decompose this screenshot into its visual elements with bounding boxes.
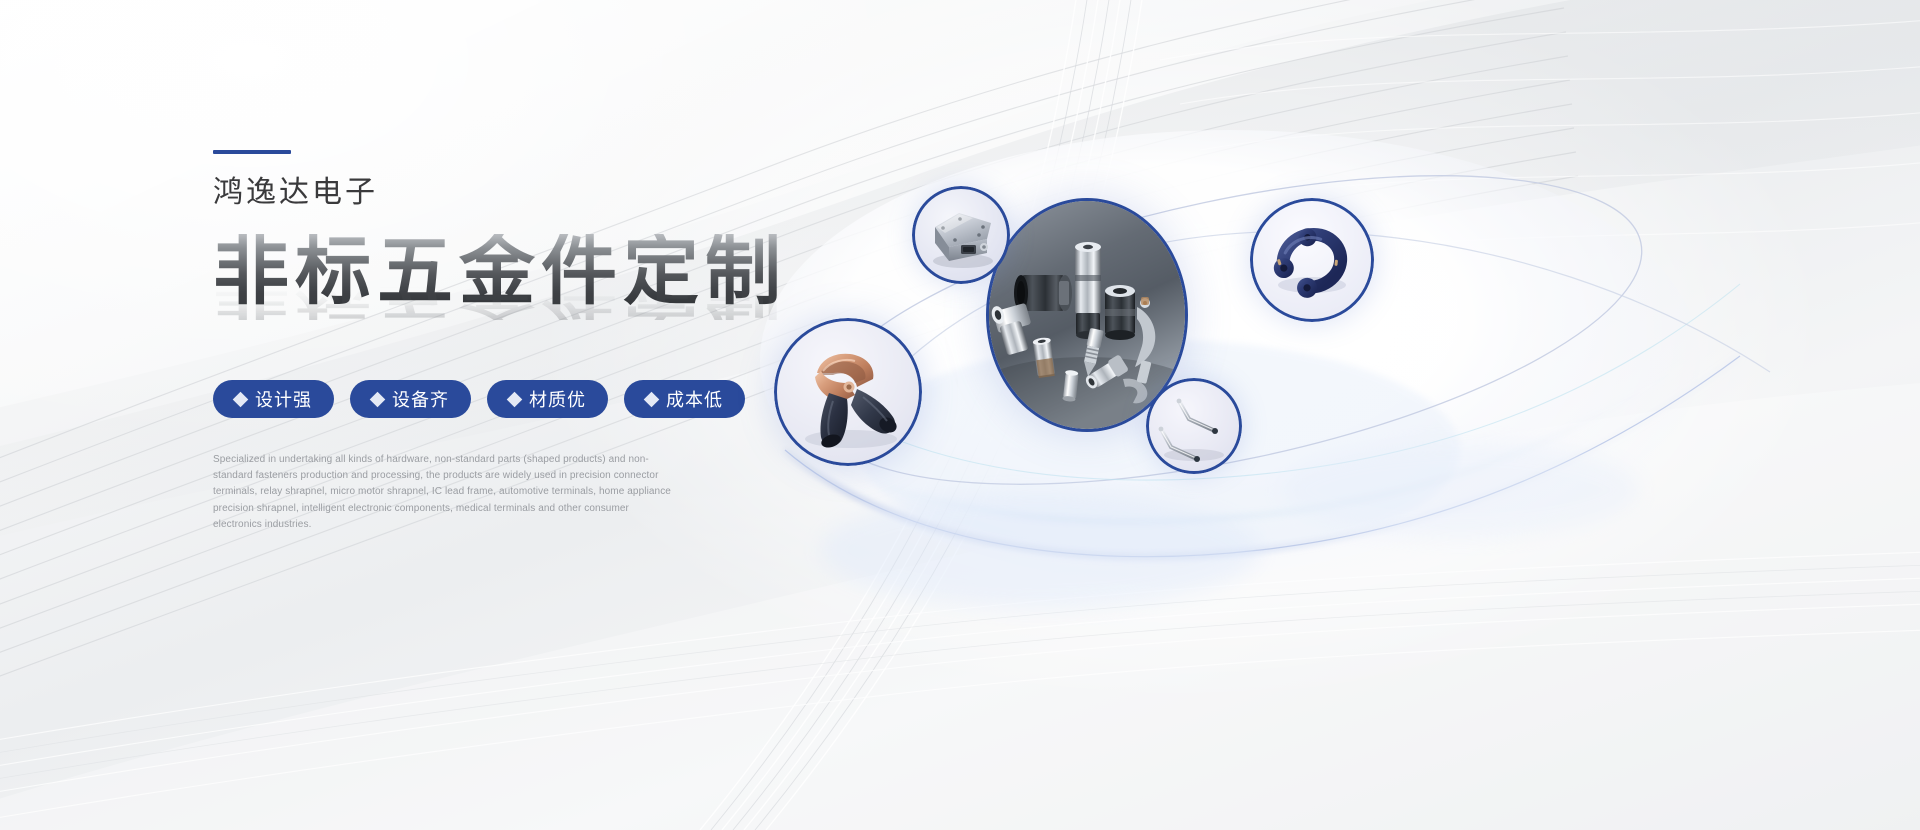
diamond-icon [644,391,660,407]
feature-pill-label: 设计强 [255,386,312,412]
battery-clamp-illustration [777,321,919,463]
feature-pill-cost[interactable]: 成本低 [624,380,745,418]
diamond-icon [507,391,523,407]
feature-pill-label: 设备齐 [392,386,449,412]
feature-pill-design[interactable]: 设计强 [213,380,334,418]
retaining-ring-illustration [1253,201,1371,319]
node-retaining-ring[interactable] [1250,198,1374,322]
metal-enclosure-illustration [915,189,1007,281]
hero-description-text: Specialized in undertaking all kinds of … [213,452,673,533]
accent-bar [213,150,291,154]
hero-banner: 鸿逸达电子 非标五金件定制 非标五金件定制 设计强 设备齐 材质优 成本低 [0,0,1920,830]
feature-pill-label: 成本低 [666,386,723,412]
product-composition [740,120,1920,740]
feature-pill-equipment[interactable]: 设备齐 [350,380,471,418]
hex-keys-photo [1149,381,1239,471]
diamond-icon [233,391,249,407]
feature-pill-label: 材质优 [529,386,586,412]
retaining-ring-photo [1253,201,1371,319]
hero-description: Specialized in undertaking all kinds of … [213,452,673,533]
battery-clamp-photo [777,321,919,463]
diamond-icon [370,391,386,407]
node-metal-enclosure[interactable] [912,186,1010,284]
node-battery-clamp[interactable] [774,318,922,466]
enclosure-photo [915,189,1007,281]
feature-pill-material[interactable]: 材质优 [487,380,608,418]
node-hex-keys[interactable] [1146,378,1242,474]
hex-keys-illustration [1149,381,1239,471]
headline-reflection: 非标五金件定制 [213,278,787,320]
